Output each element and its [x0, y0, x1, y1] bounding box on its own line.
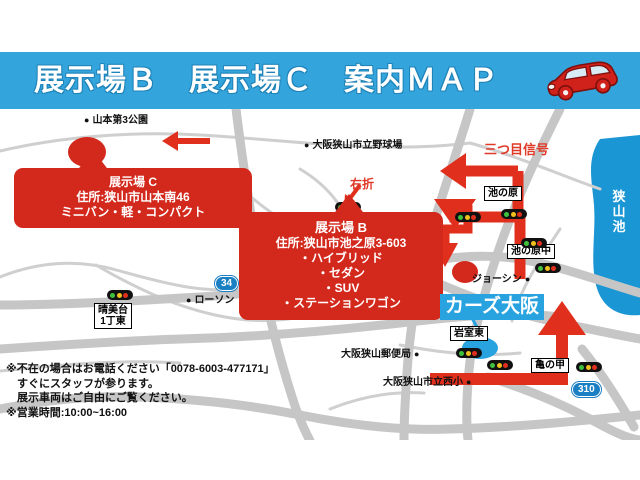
- cars-osaka-label[interactable]: カーズ大阪: [440, 294, 544, 320]
- map-flyer: 展示場Ｂ 展示場Ｃ 案内ＭＡＰ: [0, 0, 640, 480]
- landmark-nishi-elementary: 大阪狭山市立西小: [383, 377, 471, 388]
- signal-plate-kamenoko: 亀の甲: [531, 358, 569, 373]
- header-bar: 展示場Ｂ 展示場Ｃ 案内ＭＡＰ: [0, 52, 640, 109]
- note-line-3: 展示車両はご自由にご覧ください。: [6, 391, 275, 406]
- note-line-1: ※不在の場合はお電話ください「0078-6003-477171」: [6, 362, 275, 377]
- callout-b-line-1: 展示場 B: [243, 219, 439, 236]
- callout-c-line-2: 住所:狭山市山本南46: [18, 190, 248, 205]
- landmark-joshin: ジョーシン: [472, 274, 530, 285]
- callout-b-line-5: ・SUV: [243, 281, 439, 296]
- callout-b-line-2: 住所:狭山市池之原3-603: [243, 236, 439, 251]
- note-line-2: すぐにスタッフが参ります。: [6, 377, 275, 392]
- route-shield-310: 310: [572, 382, 601, 397]
- traffic-signal-harumidai: [107, 290, 133, 300]
- callout-b-line-4: ・セダン: [243, 266, 439, 281]
- callout-c-line-3: ミニバン・軽・コンパクト: [18, 205, 248, 220]
- traffic-signal-kamenoko: [576, 362, 602, 372]
- signal-plate-iwamuro-higashi: 岩室東: [450, 326, 488, 341]
- traffic-signal-west: [455, 212, 481, 222]
- letterbox-bottom: [0, 440, 640, 480]
- footer-notes: ※不在の場合はお電話ください「0078-6003-477171」 すぐにスタッフ…: [6, 362, 275, 420]
- callout-exhibit-c[interactable]: 展示場 C 住所:狭山市山本南46 ミニバン・軽・コンパクト: [14, 168, 252, 228]
- traffic-signal-ikenohara: [501, 209, 527, 219]
- landmark-yamamoto-park: 山本第3公園: [84, 115, 148, 126]
- traffic-signal-post-office: [456, 348, 482, 358]
- letterbox-top: [0, 0, 640, 52]
- signal-plate-ikenohara: 池の原: [484, 186, 522, 201]
- landmark-post-office: 大阪狭山郵便局: [341, 349, 419, 360]
- callout-c-line-1: 展示場 C: [18, 175, 248, 190]
- note-line-4: ※営業時間:10:00~16:00: [6, 406, 275, 421]
- landmark-baseball-stadium: 大阪狭山市立野球場: [304, 140, 402, 151]
- landmark-lawson: ローソン: [186, 295, 234, 306]
- signal-plate-harumidai: 晴美台1丁東: [94, 303, 132, 329]
- lake-label: 狭山池: [611, 189, 627, 234]
- note-turn-right: 右折: [350, 175, 374, 192]
- traffic-signal-joshin: [535, 263, 561, 273]
- note-third-signal: 三つ目信号: [484, 139, 549, 158]
- page-title: 展示場Ｂ 展示場Ｃ 案内ＭＡＰ: [34, 59, 534, 103]
- route-shield-34: 34: [215, 276, 238, 291]
- callout-b-line-6: ・ステーションワゴン: [243, 296, 439, 311]
- red-car-icon: [540, 60, 624, 102]
- traffic-signal-iwamuro: [487, 360, 513, 370]
- traffic-signal-ikenohara-naka: [521, 238, 547, 248]
- callout-exhibit-b[interactable]: 展示場 B 住所:狭山市池之原3-603 ・ハイブリッド ・セダン ・SUV ・…: [239, 212, 443, 320]
- callout-b-line-3: ・ハイブリッド: [243, 251, 439, 266]
